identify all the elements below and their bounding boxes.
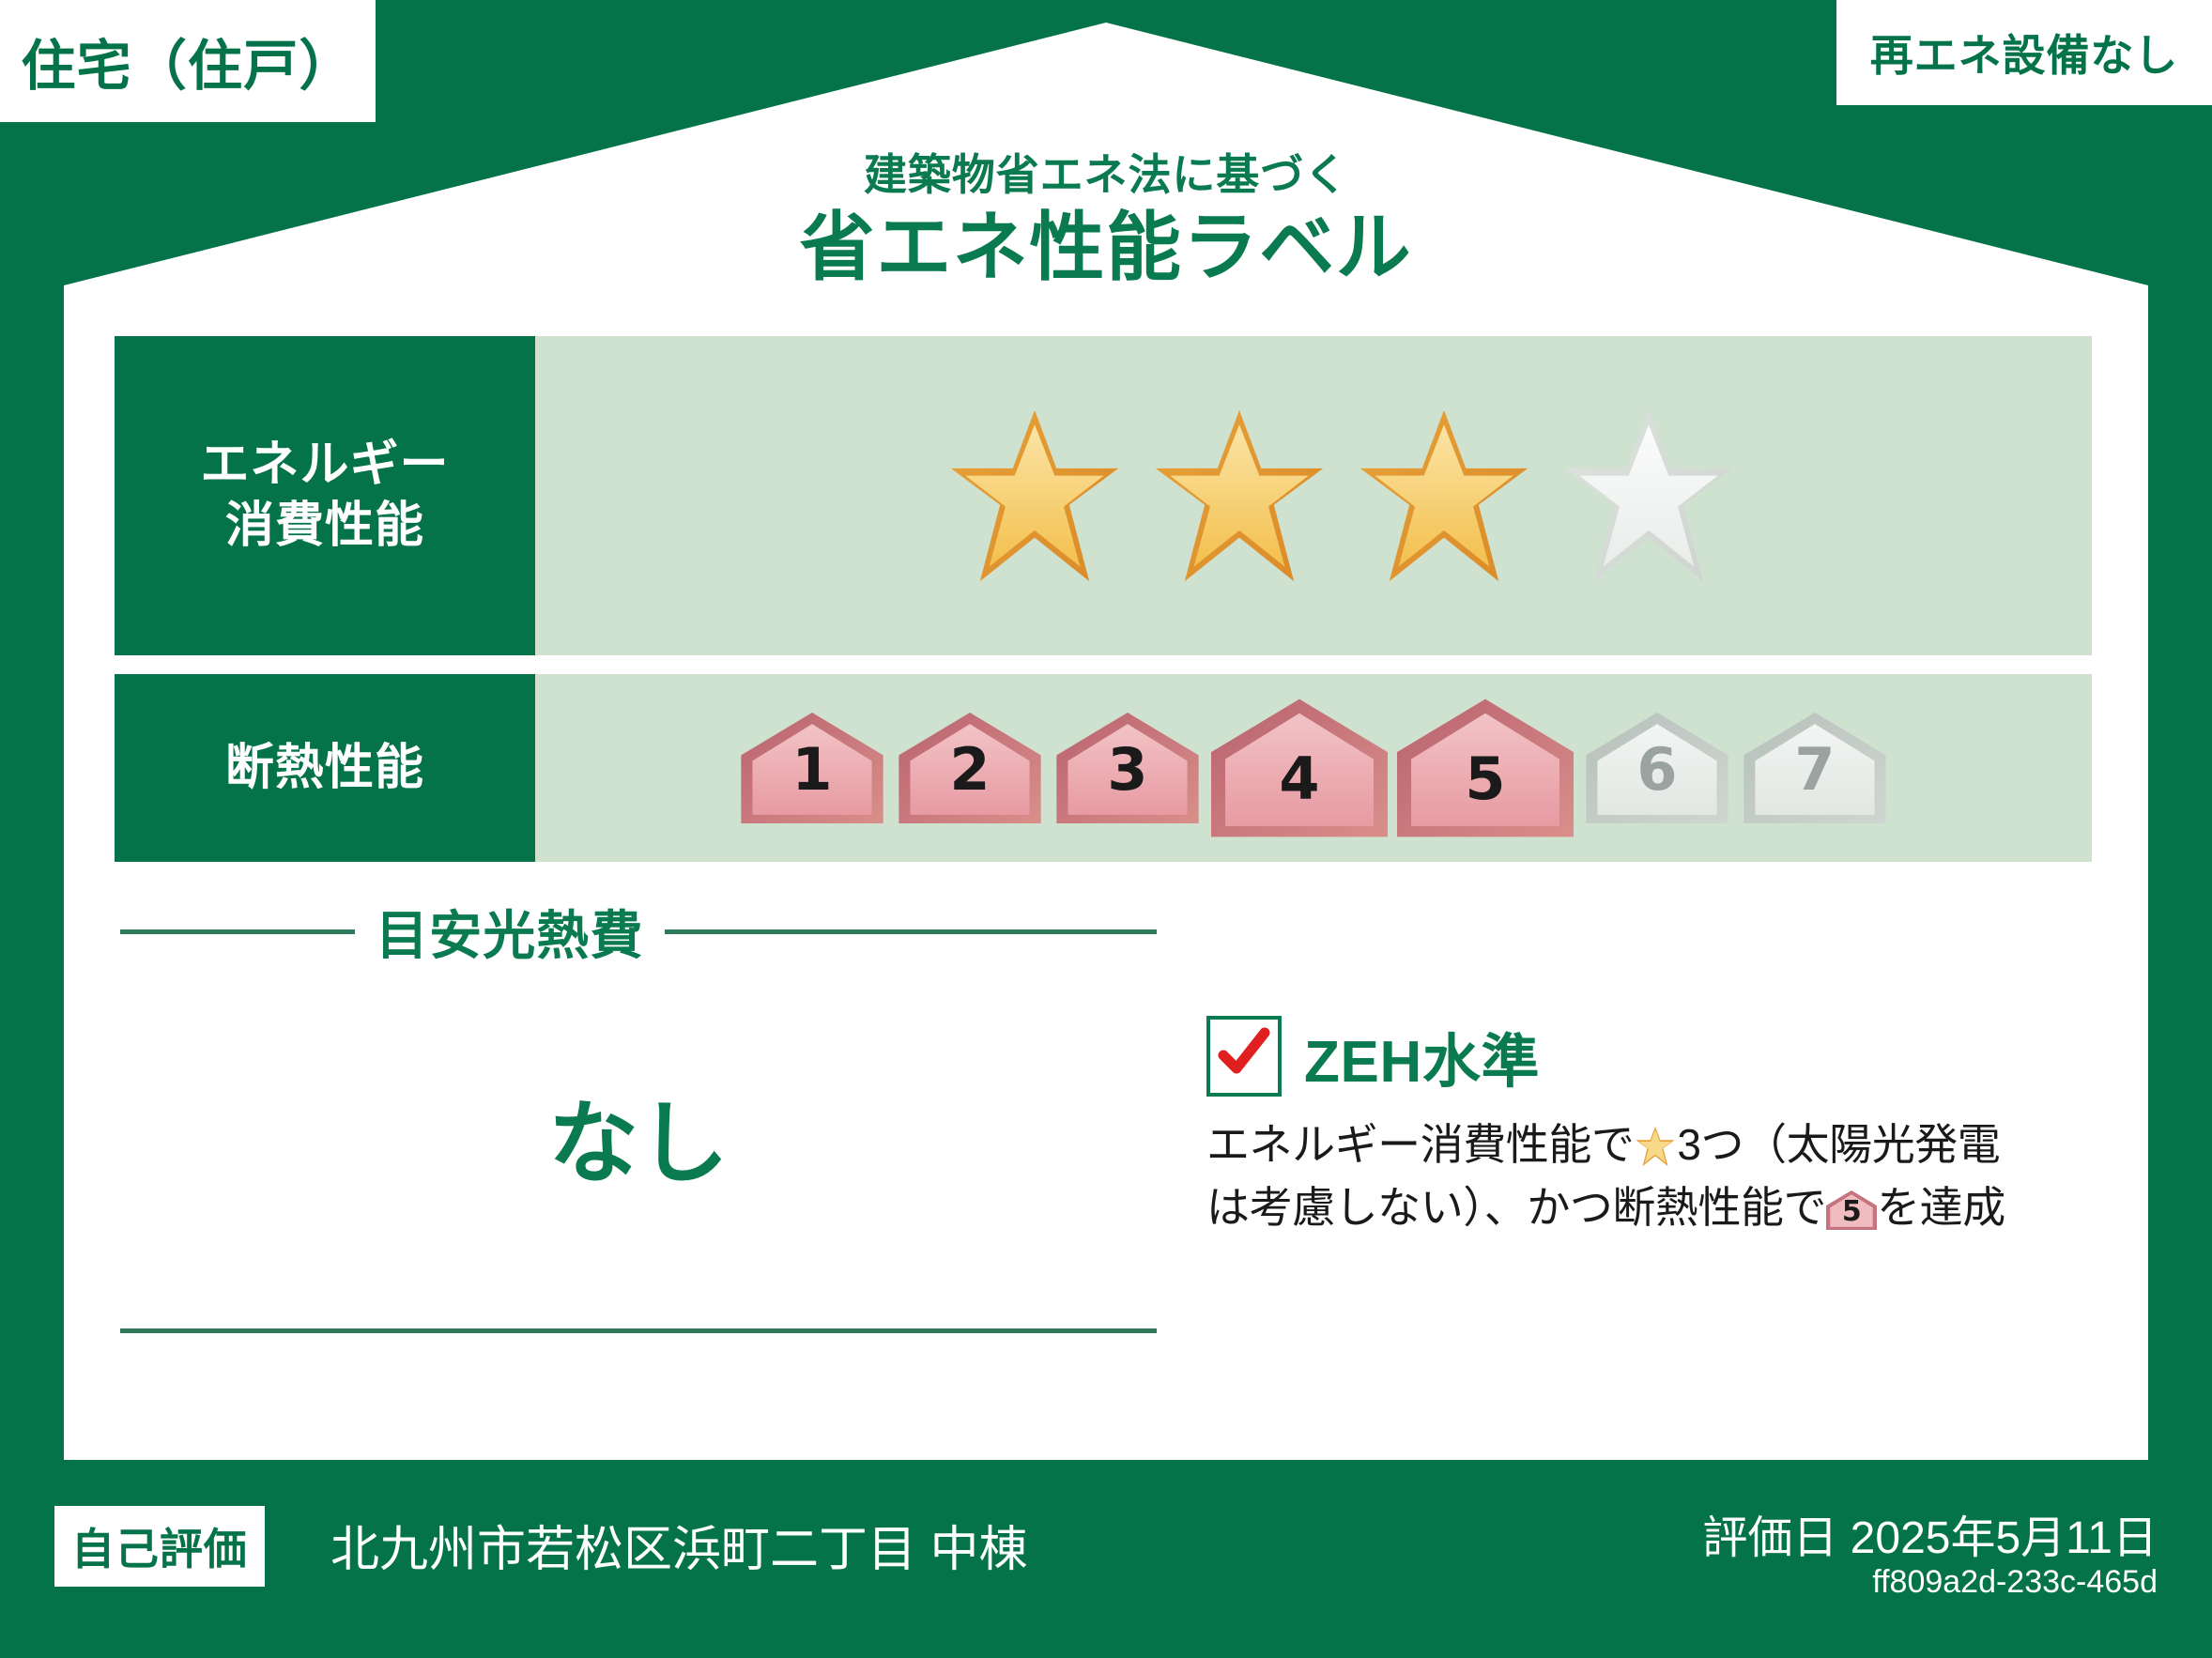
- energy-label-line2: 消費性能: [225, 496, 424, 557]
- zeh-standard-block: ZEH水準 エネルギー消費性能で3つ（太陽光発電 は考慮しない）、かつ断熱性能で…: [1206, 1014, 2108, 1238]
- insulation-level-4-number: 4: [1211, 745, 1388, 813]
- inline-insulation-house-icon: 5: [1826, 1186, 1877, 1231]
- zeh-desc-1a: エネルギー消費性能で: [1206, 1120, 1634, 1169]
- insulation-level-4: 4: [1211, 698, 1388, 838]
- zeh-desc-2b: を達成: [1877, 1183, 2005, 1232]
- insulation-label-text: 断熱性能: [225, 738, 424, 799]
- cost-divider-left: [120, 929, 355, 934]
- insulation-levels-container: 1 2 3 4: [535, 674, 2092, 862]
- building-type-label: 住宅（住戸）: [22, 22, 355, 100]
- building-type-badge: 住宅（住戸）: [0, 0, 376, 122]
- star-icon-filled-3: [1352, 407, 1536, 585]
- evaluation-id: ff809a2d-233c-465d: [1872, 1564, 2158, 1601]
- energy-label-line1: エネルギー: [200, 435, 449, 496]
- insulation-level-5: 5: [1397, 698, 1574, 838]
- energy-performance-label: エネルギー 消費性能: [115, 336, 535, 655]
- zeh-checkbox[interactable]: [1206, 1016, 1282, 1097]
- cost-divider-right: [665, 929, 1157, 934]
- inline-house-number: 5: [1826, 1191, 1877, 1233]
- zeh-description-line-2: は考慮しない）、かつ断熱性能で5を達成: [1206, 1176, 2108, 1239]
- insulation-level-2: 2: [896, 713, 1044, 823]
- insulation-level-7-number: 7: [1741, 735, 1889, 804]
- title-block: 建築物省エネ法に基づく 省エネ性能ラベル: [0, 141, 2212, 287]
- insulation-level-6-number: 6: [1583, 735, 1731, 804]
- insulation-level-1-number: 1: [738, 735, 886, 804]
- estimated-utility-cost-header: 目安光熱費: [120, 894, 1157, 970]
- renewable-energy-badge: 再エネ設備なし: [1836, 0, 2212, 105]
- zeh-title: ZEH水準: [1304, 1014, 1540, 1098]
- cost-divider-bottom: [120, 1328, 1157, 1333]
- estimated-utility-cost-title: 目安光熱費: [376, 894, 644, 970]
- energy-stars-container: [535, 336, 2092, 655]
- star-icon-filled-1: [943, 407, 1127, 585]
- evaluation-date: 評価日 2025年5月11日: [1702, 1500, 2158, 1566]
- evaluation-type-badge: 自己評価: [54, 1506, 265, 1587]
- property-address: 北九州市若松区浜町二丁目 中棟: [330, 1510, 1027, 1580]
- insulation-level-1: 1: [738, 713, 886, 823]
- page-title: 省エネ性能ラベル: [0, 208, 2212, 287]
- zeh-desc-2a: は考慮しない）、かつ断熱性能で: [1206, 1183, 1826, 1232]
- inline-star-icon: [1634, 1126, 1677, 1167]
- zeh-desc-1b: 3つ（太陽光発電: [1677, 1120, 2000, 1169]
- label-root: 住宅（住戸） 再エネ設備なし 建築物省エネ法に基づく 省エネ性能ラベル エネルギ…: [0, 0, 2212, 1658]
- title-subtitle: 建築物省エネ法に基づく: [0, 141, 2212, 203]
- insulation-performance-row: 断熱性能 1: [115, 674, 2092, 862]
- insulation-level-3-number: 3: [1053, 735, 1202, 804]
- star-icon-empty-4: [1557, 407, 1741, 585]
- insulation-level-3: 3: [1053, 713, 1202, 823]
- renewable-energy-label: 再エネ設備なし: [1870, 22, 2178, 84]
- insulation-performance-label: 断熱性能: [115, 674, 535, 862]
- energy-performance-row: エネルギー 消費性能: [115, 336, 2092, 655]
- insulation-level-7: 7: [1741, 713, 1889, 823]
- zeh-description-line-1: エネルギー消費性能で3つ（太陽光発電: [1206, 1113, 2108, 1176]
- footer-bar: 自己評価 北九州市若松区浜町二丁目 中棟 評価日 2025年5月11日 ff80…: [0, 1470, 2212, 1658]
- check-icon: [1216, 1027, 1270, 1082]
- insulation-level-2-number: 2: [896, 735, 1044, 804]
- estimated-utility-cost-value: なし: [120, 1070, 1157, 1201]
- insulation-level-6: 6: [1583, 713, 1731, 823]
- zeh-heading: ZEH水準: [1206, 1014, 2108, 1098]
- star-icon-filled-2: [1147, 407, 1331, 585]
- insulation-level-5-number: 5: [1397, 745, 1574, 813]
